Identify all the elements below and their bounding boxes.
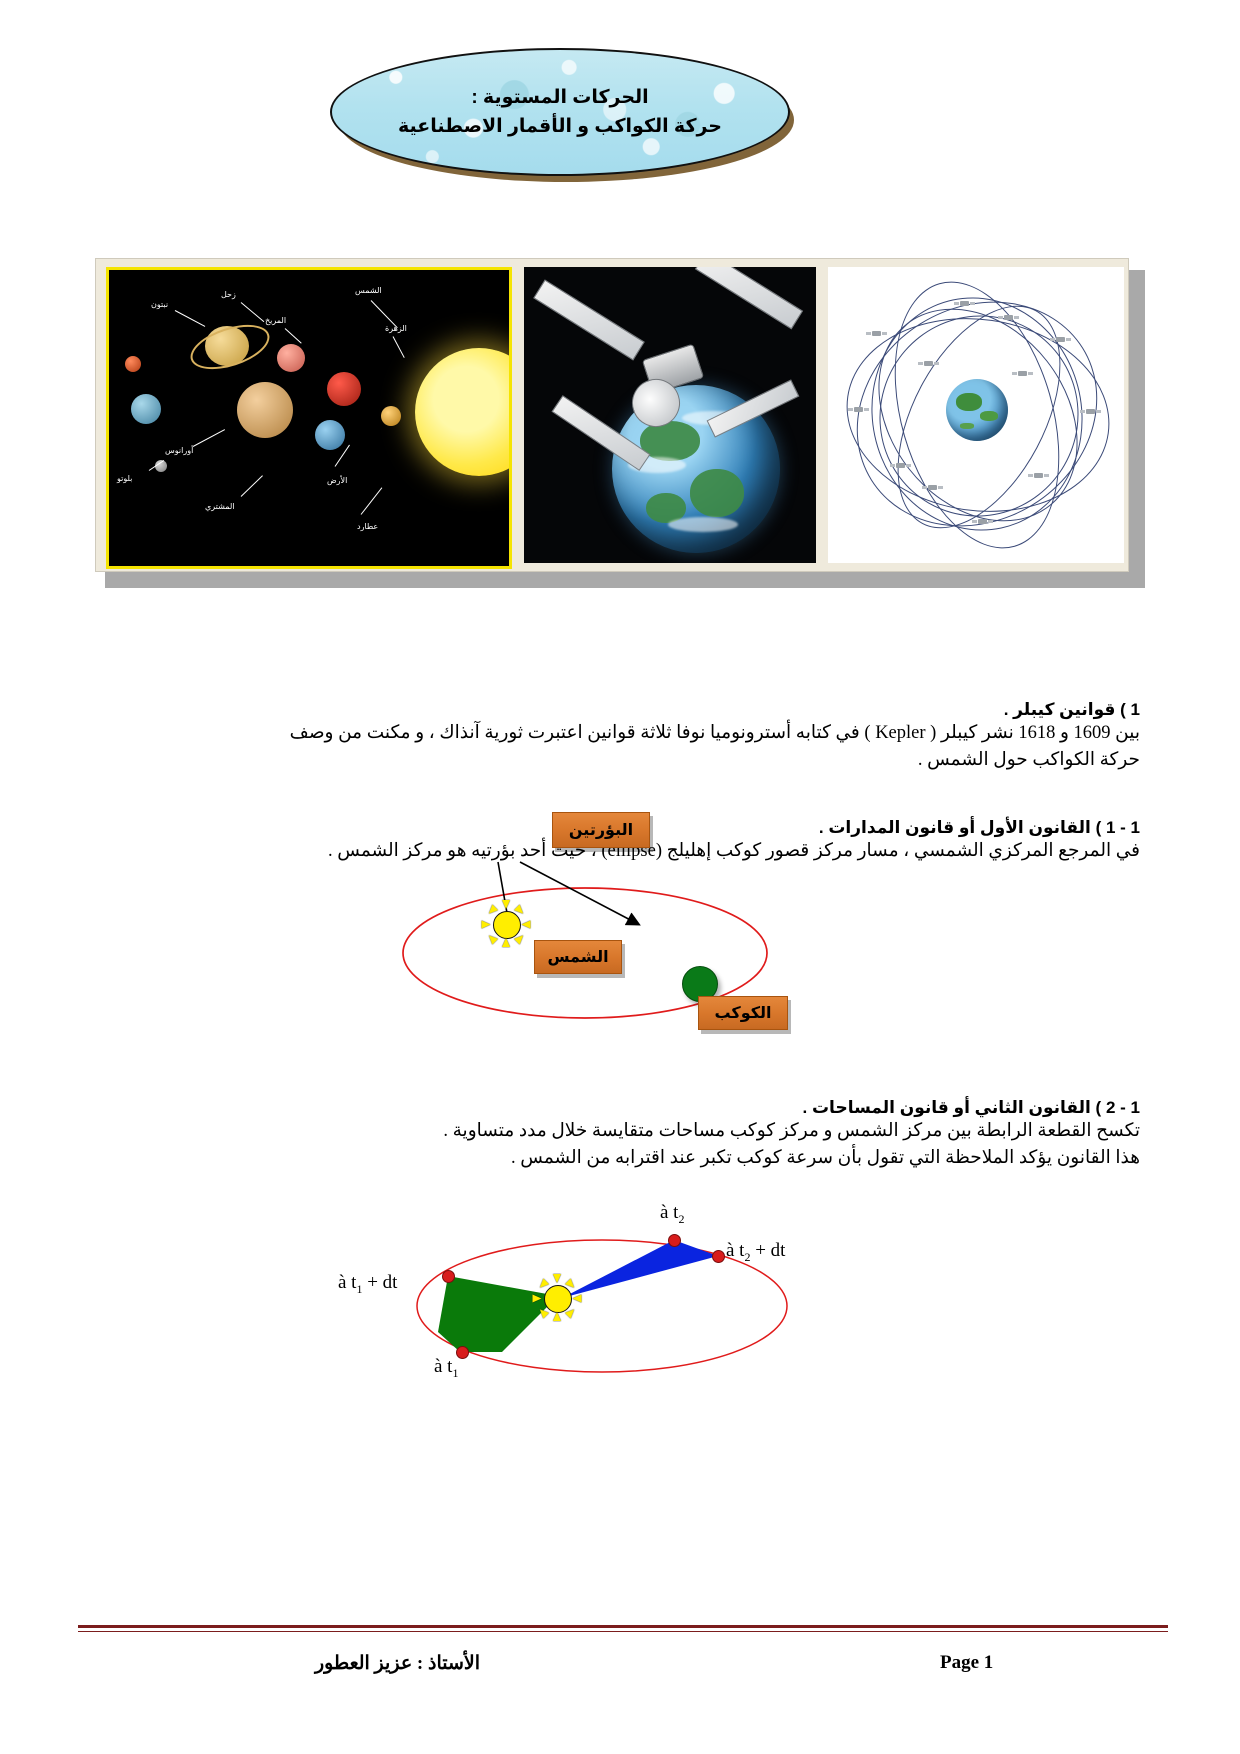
sun-icon-figure2	[535, 1276, 579, 1320]
figure2-canvas	[330, 1210, 870, 1390]
footer-page-number: Page 1	[940, 1652, 993, 1674]
footer-teacher-name: الأستاذ : عزيز العطور	[315, 1652, 480, 1675]
planet-label-mercury: عطارد	[357, 522, 378, 531]
label-t2-dt: à t2 + dt	[726, 1240, 785, 1265]
footer-rule-thin	[78, 1631, 1168, 1632]
planet-label-pluto: بلوتو	[117, 474, 132, 483]
illustration-strip: نبتون زحل المريخ الشمس الزهرة أورانوس ال…	[95, 258, 1145, 588]
label-sun-text: الشمس	[547, 947, 608, 967]
page-title-line-1: الحركات المستوية :	[471, 83, 648, 112]
label-t1-sub: 1	[452, 1366, 458, 1380]
section-heading-3: 1 - 2 ) القانون الثاني أو قانون المساحات…	[125, 1098, 1140, 1118]
label-t1-dt-tail: + dt	[362, 1272, 397, 1293]
label-t2-dt-tail: + dt	[750, 1240, 785, 1261]
planet-label-sun: الشمس	[355, 286, 382, 295]
marker-t2	[668, 1234, 681, 1247]
planet-label-mars: المريخ	[265, 316, 286, 325]
section-3-paragraph-line-2: هذا القانون يؤكد الملاحظة التي تقول بأن …	[125, 1145, 1140, 1172]
marker-t2-dt	[712, 1250, 725, 1263]
label-t1: à t1	[434, 1356, 458, 1381]
satellites-orbit-image	[828, 267, 1124, 563]
sun-sphere	[415, 348, 512, 476]
planet-label-uranus: أورانوس	[165, 446, 193, 455]
section-3-paragraph-line-1: تكسح القطعة الرابطة بين مركز الشمس و مرك…	[125, 1118, 1140, 1145]
figure-ellipse-foci: البؤرتين الشمس الكوكب	[380, 800, 860, 1060]
marker-t1-dt	[442, 1270, 455, 1283]
label-box-planet: الكوكب	[698, 996, 788, 1030]
page-title-line-2: حركة الكواكب و الأقمار الاصطناعية	[398, 112, 722, 141]
label-foci-text: البؤرتين	[569, 820, 633, 840]
label-t2: à t2	[660, 1202, 684, 1227]
section-second-law: 1 - 2 ) القانون الثاني أو قانون المساحات…	[125, 1098, 1140, 1172]
strip-frame: نبتون زحل المريخ الشمس الزهرة أورانوس ال…	[95, 258, 1129, 572]
planet-label-saturn: زحل	[221, 290, 236, 299]
section-1-paragraph-line-2: حركة الكواكب حول الشمس .	[125, 747, 1140, 774]
section-kepler-laws: 1 ) قوانين كيبلر . بين 1609 و 1618 نشر ك…	[125, 700, 1140, 774]
planet-label-jupiter: المشتري	[205, 502, 235, 511]
title-oval: الحركات المستوية : حركة الكواكب و الأقما…	[330, 48, 790, 176]
footer-rule-thick	[78, 1625, 1168, 1628]
label-t1-dt: à t1 + dt	[338, 1272, 397, 1297]
label-t2-text: à t	[660, 1202, 678, 1223]
label-t2-dt-text: à t	[726, 1240, 744, 1261]
label-t2-sub: 2	[678, 1212, 684, 1226]
label-planet-text: الكوكب	[714, 1003, 771, 1023]
planet-label-earth: الأرض	[327, 476, 347, 485]
sun-icon	[484, 902, 528, 946]
page-title-banner: الحركات المستوية : حركة الكواكب و الأقما…	[330, 48, 800, 188]
planet-label-neptune: نبتون	[151, 300, 168, 309]
document-page: الحركات المستوية : حركة الكواكب و الأقما…	[0, 0, 1240, 1754]
label-t1-text: à t	[434, 1356, 452, 1377]
label-box-foci: البؤرتين	[552, 812, 650, 848]
satellite-space-image	[524, 267, 816, 563]
label-t1-dt-text: à t	[338, 1272, 356, 1293]
section-1-paragraph-line-1: بين 1609 و 1618 نشر كيبلر ( Kepler ) في …	[125, 720, 1140, 747]
label-box-sun: الشمس	[534, 940, 622, 974]
figure-equal-areas: à t2 à t2 + dt à t1 + dt à t1	[330, 1210, 870, 1390]
solar-system-image: نبتون زحل المريخ الشمس الزهرة أورانوس ال…	[106, 267, 512, 569]
section-heading-1: 1 ) قوانين كيبلر .	[125, 700, 1140, 720]
